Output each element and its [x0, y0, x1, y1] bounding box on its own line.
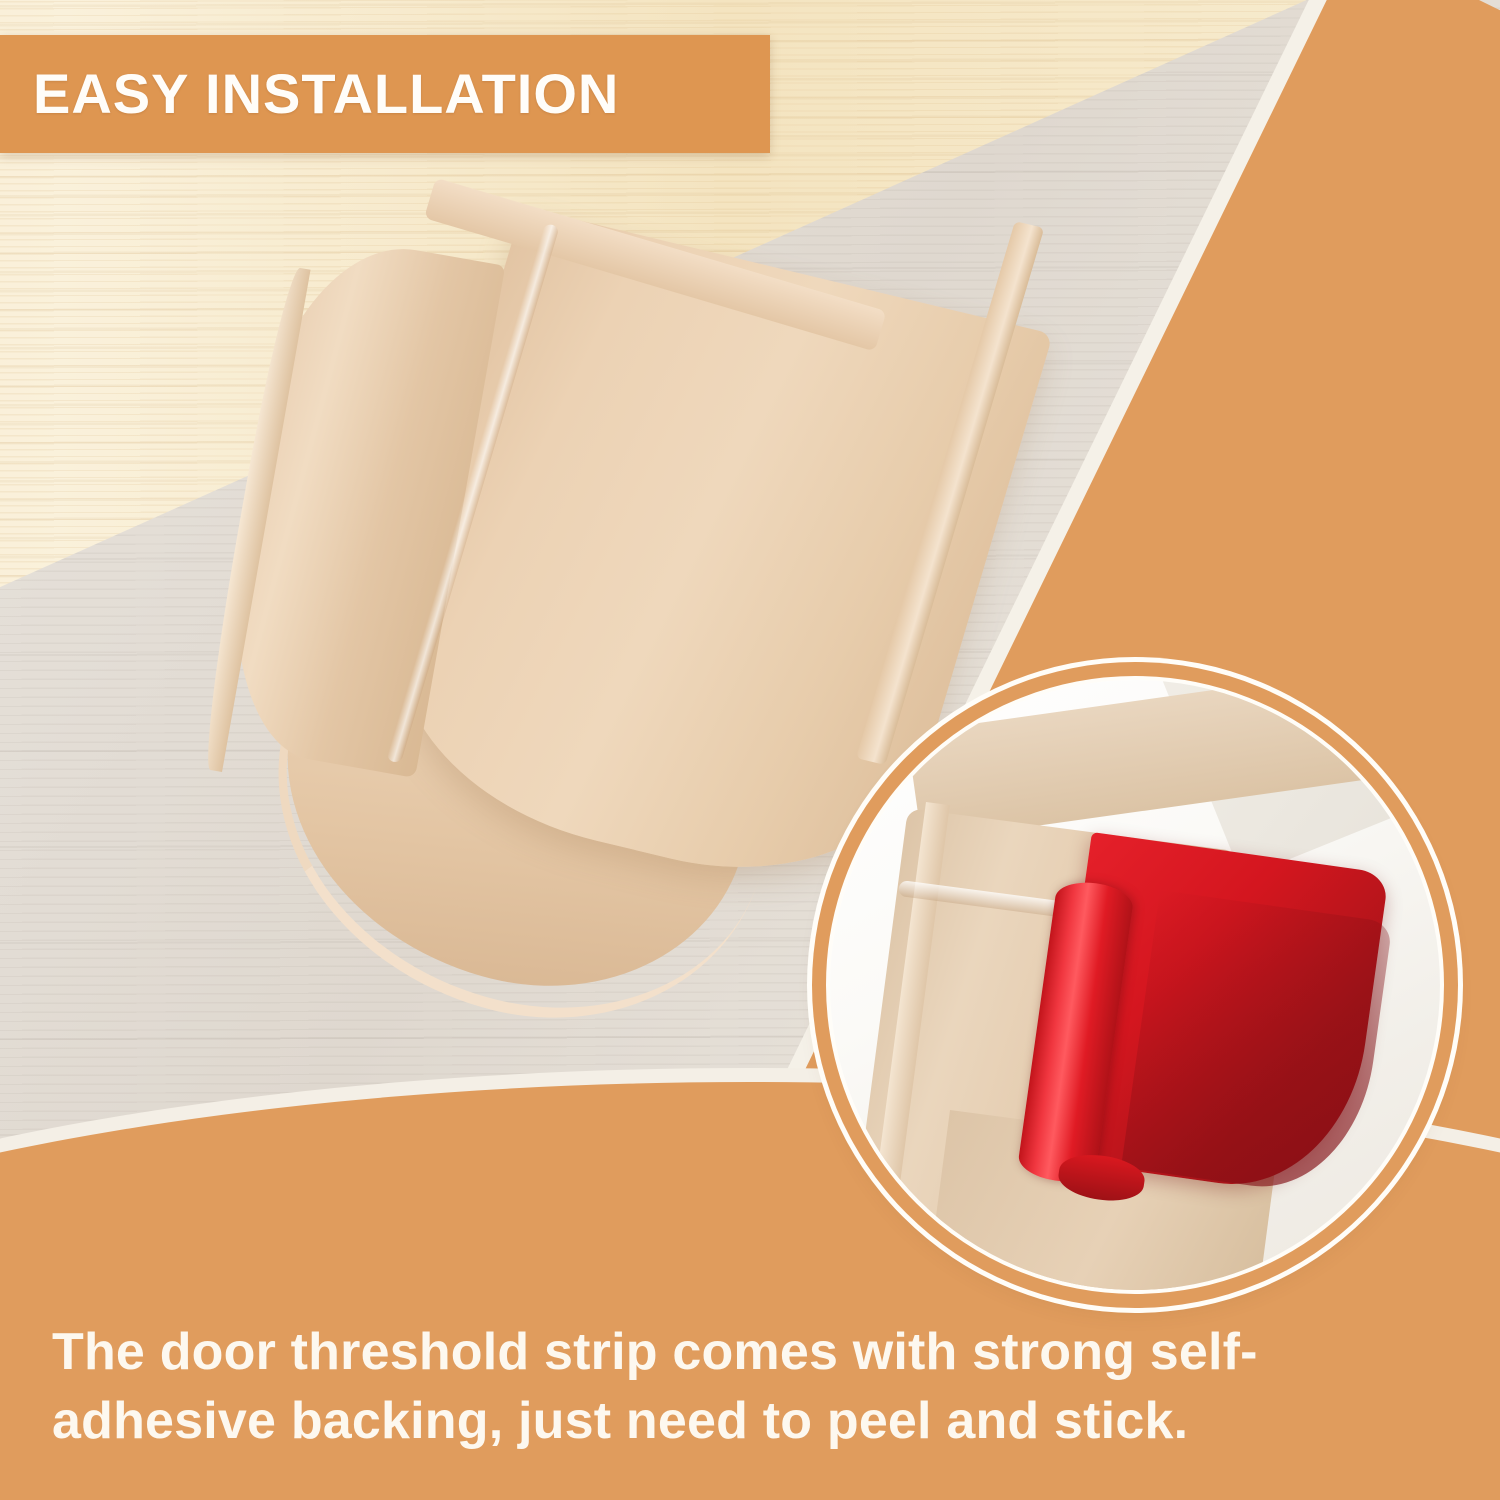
adhesive-detail-inset	[826, 676, 1444, 1294]
feature-caption: The door threshold strip comes with stro…	[52, 1318, 1452, 1455]
product-feature-banner: EASY INSTALLATION The door threshold str…	[0, 0, 1500, 1500]
header-banner: EASY INSTALLATION	[0, 35, 770, 153]
banner-title: EASY INSTALLATION	[33, 66, 619, 122]
